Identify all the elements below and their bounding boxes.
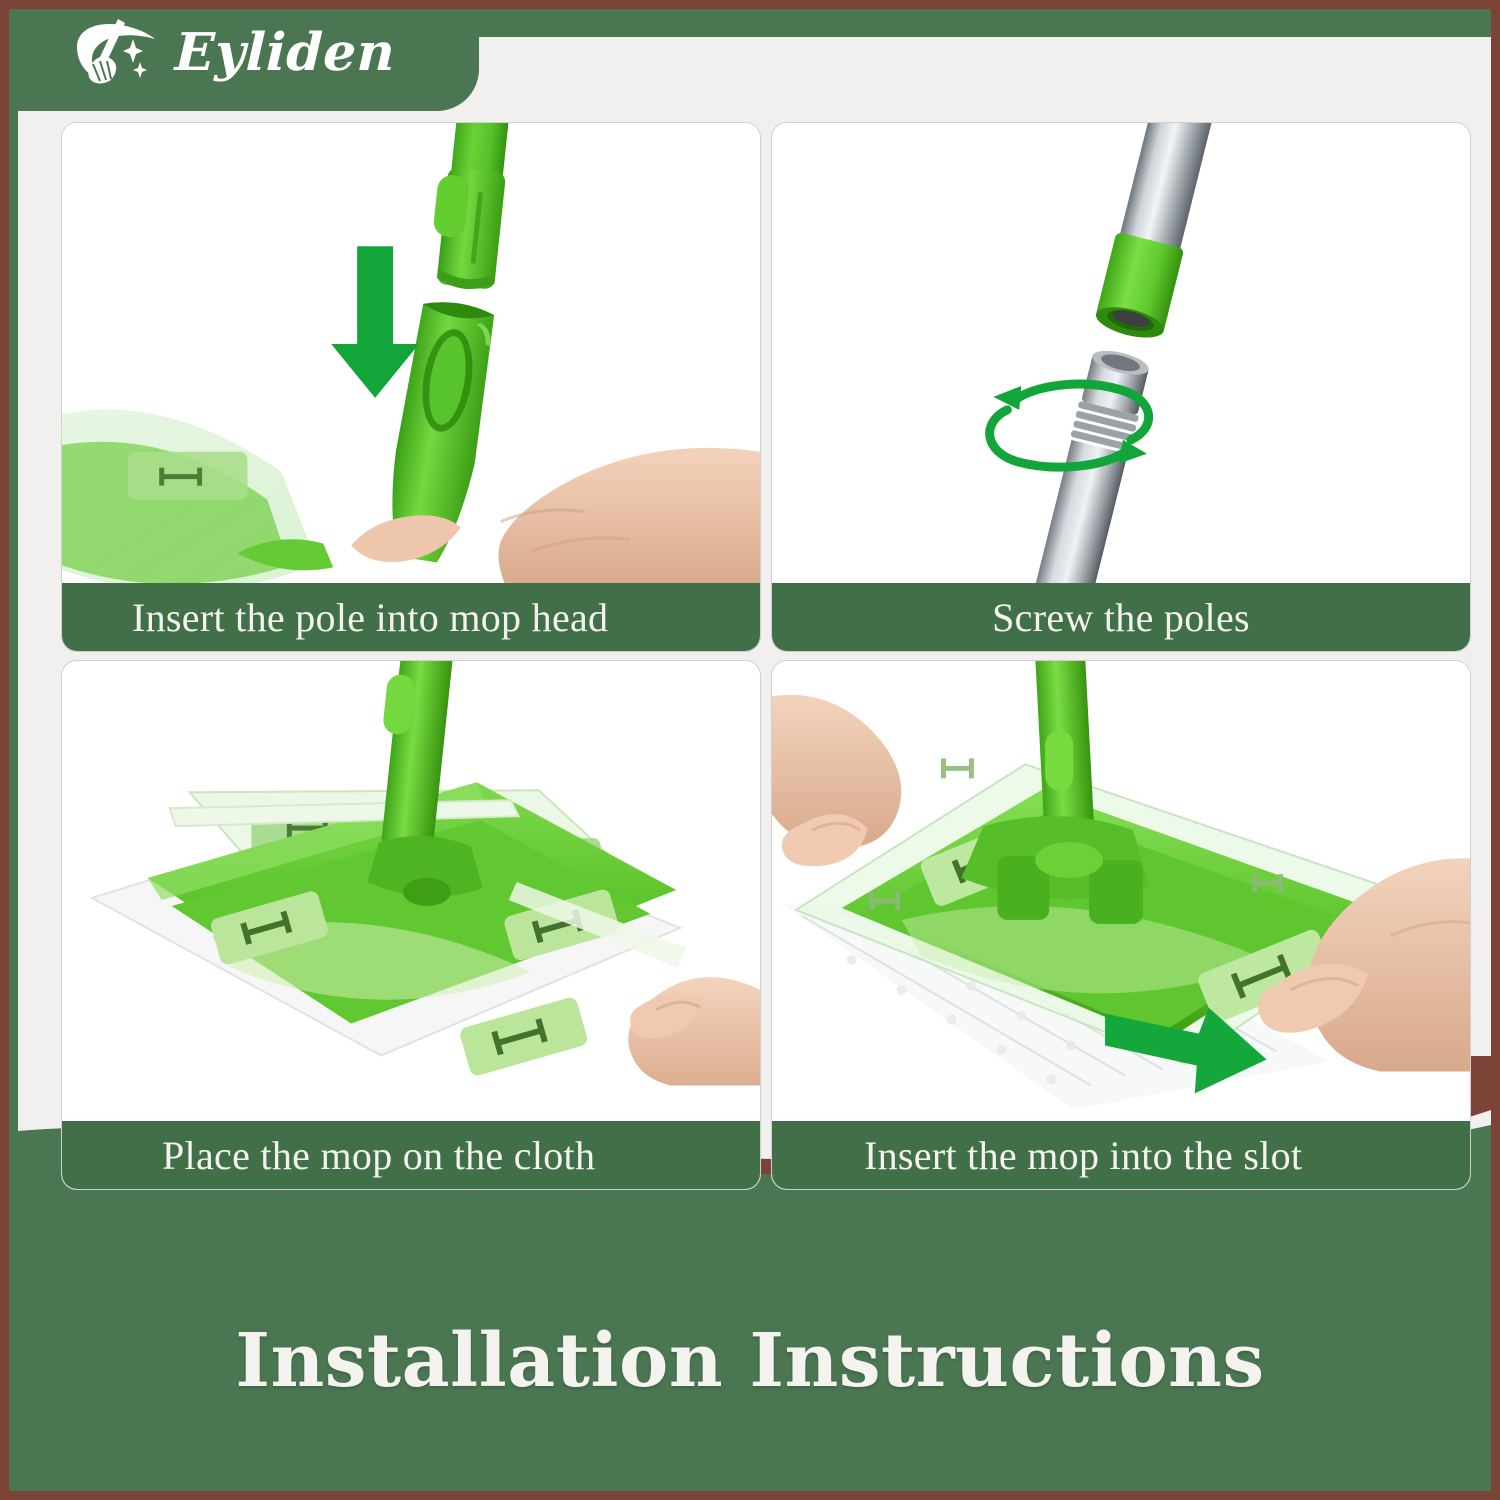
page-title: Installation Instructions: [235, 1318, 1264, 1404]
step-card-4[interactable]: Insert the mop into the slot: [771, 660, 1471, 1190]
illustration-screw-poles: [772, 123, 1470, 583]
step-caption-4: Insert the mop into the slot: [772, 1121, 1470, 1189]
illustration-mop-on-cloth: [62, 661, 760, 1121]
step-photo-3: [62, 661, 760, 1121]
step-caption-3: Place the mop on the cloth: [62, 1121, 760, 1189]
brand-header: Eyliden: [9, 9, 479, 111]
step-card-1[interactable]: Insert the pole into mop head: [61, 122, 761, 652]
step-photo-4: [772, 661, 1470, 1121]
step-caption-2: Screw the poles: [772, 583, 1470, 651]
brand-name: Eyliden: [174, 27, 396, 79]
infographic-page: Eyliden: [0, 0, 1500, 1500]
steps-grid: Insert the pole into mop head: [61, 122, 1461, 1192]
step-card-3[interactable]: Place the mop on the cloth: [61, 660, 761, 1190]
step-card-2[interactable]: Screw the poles: [771, 122, 1471, 652]
step-photo-1: [62, 123, 760, 583]
logo: Eyliden: [71, 17, 395, 89]
illustration-insert-pole: [62, 123, 760, 583]
mop-sparkle-icon: [71, 17, 161, 89]
step-photo-2: [772, 123, 1470, 583]
title-area: Installation Instructions: [9, 1191, 1491, 1491]
step-caption-1: Insert the pole into mop head: [62, 583, 760, 651]
illustration-insert-into-slot: [772, 661, 1470, 1121]
